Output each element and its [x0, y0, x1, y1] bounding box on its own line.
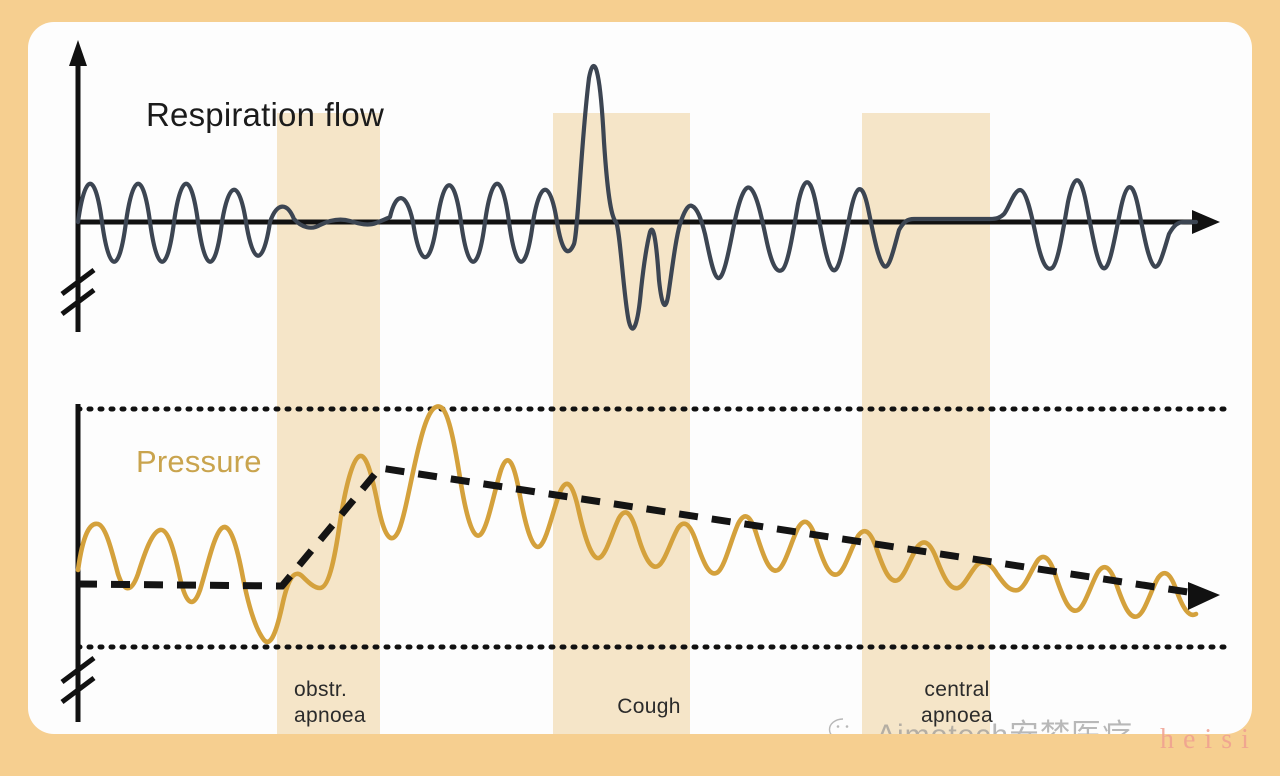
- wechat-icon: [828, 716, 868, 734]
- pressure-trend-arrow: [1188, 582, 1220, 610]
- chart-card: Respiration flow Pressure obstr. apnoea …: [28, 22, 1252, 734]
- obstructive-apnoea-label: obstr. apnoea: [294, 677, 420, 729]
- figure-root: Respiration flow Pressure obstr. apnoea …: [0, 0, 1280, 776]
- heisi-corner-mark: heisi: [1160, 724, 1258, 756]
- pressure-label: Pressure: [136, 444, 262, 480]
- watermark: Aimotech安梦医疗: [828, 710, 1133, 734]
- event-bands: [277, 113, 990, 734]
- flow-y-axis-arrow: [69, 40, 87, 66]
- cough-label: Cough: [584, 694, 714, 720]
- watermark-text: Aimotech安梦医疗: [876, 710, 1133, 734]
- band-cough: [553, 113, 690, 734]
- band-obstructive-apnoea: [277, 113, 380, 734]
- respiration-flow-label: Respiration flow: [146, 96, 384, 134]
- band-central-apnoea: [862, 113, 990, 734]
